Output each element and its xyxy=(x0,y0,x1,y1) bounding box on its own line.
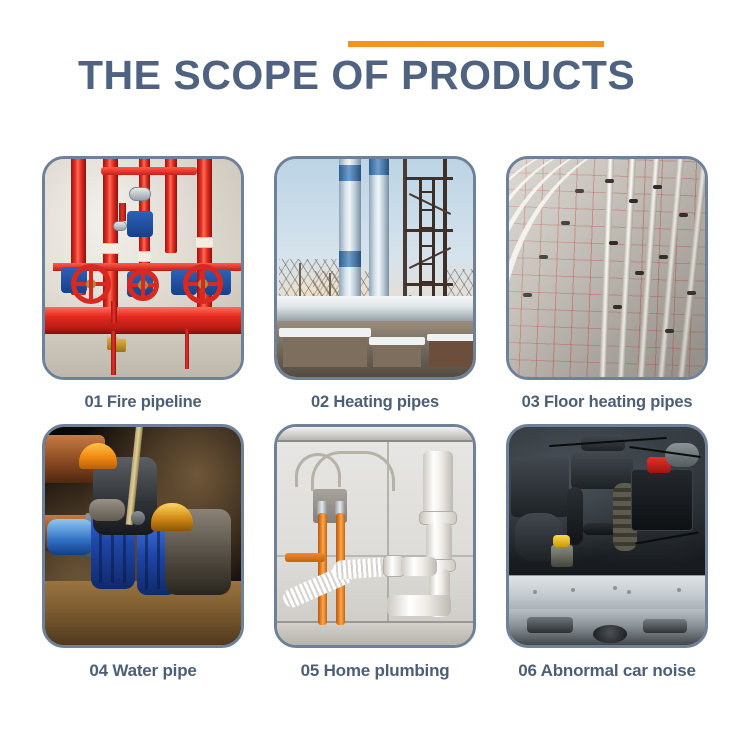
product-caption-05: 05 Home plumbing xyxy=(274,661,476,681)
heating-pipes-photo xyxy=(277,159,473,377)
product-card-04[interactable] xyxy=(42,424,244,648)
page-title-plain: THE SCOPE OF xyxy=(78,52,401,98)
product-card-05[interactable] xyxy=(274,424,476,648)
product-grid: 01 Fire pipeline xyxy=(42,156,708,681)
product-cell-06[interactable]: 06 Abnormal car noise xyxy=(506,424,708,681)
product-caption-01: 01 Fire pipeline xyxy=(42,393,244,412)
product-cell-04[interactable]: 04 Water pipe xyxy=(42,424,244,681)
page-title: THE SCOPE OF PRODUCTS xyxy=(78,52,698,98)
product-card-02[interactable] xyxy=(274,156,476,380)
product-caption-02: 02 Heating pipes xyxy=(274,393,476,412)
title-underline-accent xyxy=(348,41,604,47)
product-card-06[interactable] xyxy=(506,424,708,648)
product-cell-03[interactable]: 03 Floor heating pipes xyxy=(506,156,708,412)
water-pipe-photo xyxy=(45,427,241,645)
product-cell-02[interactable]: 02 Heating pipes xyxy=(274,156,476,412)
floor-heating-pipes-photo xyxy=(509,159,705,377)
fire-pipeline-photo xyxy=(45,159,241,377)
product-caption-04: 04 Water pipe xyxy=(42,661,244,681)
product-card-01[interactable] xyxy=(42,156,244,380)
product-card-03[interactable] xyxy=(506,156,708,380)
product-caption-03: 03 Floor heating pipes xyxy=(506,393,708,412)
home-plumbing-photo xyxy=(277,427,473,645)
product-cell-01[interactable]: 01 Fire pipeline xyxy=(42,156,244,412)
page-title-accented: PRODUCTS xyxy=(401,52,635,98)
product-cell-05[interactable]: 05 Home plumbing xyxy=(274,424,476,681)
product-scope-poster: THE SCOPE OF PRODUCTS xyxy=(0,0,750,750)
page-title-block: THE SCOPE OF PRODUCTS xyxy=(78,52,698,104)
product-caption-06: 06 Abnormal car noise xyxy=(506,661,708,681)
abnormal-car-noise-photo xyxy=(509,427,705,645)
